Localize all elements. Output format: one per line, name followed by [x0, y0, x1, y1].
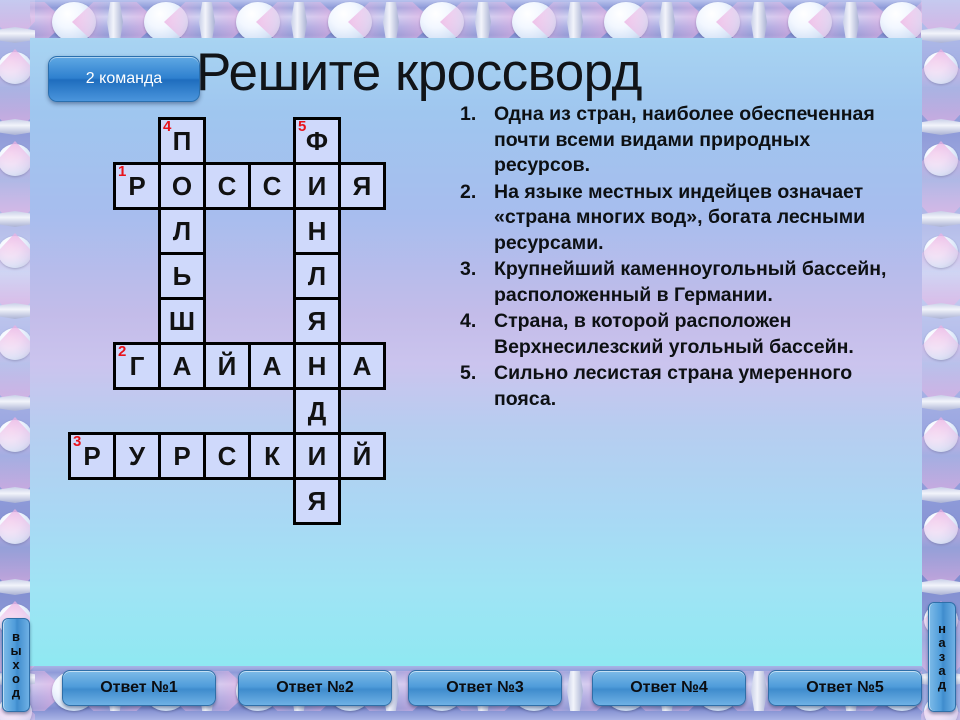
vertical-button-letter: н: [938, 622, 946, 636]
crossword-cell-number: 3: [73, 434, 81, 449]
crossword-cell-letter: Ь: [173, 261, 192, 292]
crossword-cell[interactable]: О: [158, 162, 206, 210]
crossword-cell[interactable]: И: [293, 432, 341, 480]
answer-button-2[interactable]: Ответ №2: [238, 670, 392, 706]
crossword-cell-number: 1: [118, 164, 126, 179]
answer-button-bar: Ответ №1Ответ №2Ответ №3Ответ №4Ответ №5: [0, 658, 960, 720]
vertical-button-letter: д: [12, 686, 20, 700]
frame-bar-ornament: [843, 2, 859, 42]
crossword-cell[interactable]: Й: [338, 432, 386, 480]
crossword-cell[interactable]: 5Ф: [293, 117, 341, 165]
clue-item: 3.Крупнейший каменноугольный бассейн, ра…: [460, 257, 890, 308]
crossword-cell[interactable]: А: [248, 342, 296, 390]
crossword-cell-letter: Ш: [169, 306, 195, 337]
crossword-cell-letter: Н: [308, 216, 327, 247]
crossword-cell[interactable]: А: [158, 342, 206, 390]
frame-bar-ornament: [475, 2, 491, 42]
crossword-cell-letter: П: [173, 126, 192, 157]
vertical-button-letter: ы: [10, 644, 21, 658]
crossword-cell[interactable]: Р: [158, 432, 206, 480]
crossword-cell-letter: С: [218, 441, 237, 472]
crossword-cell-letter: А: [263, 351, 282, 382]
crossword-cell-letter: А: [353, 351, 372, 382]
crossword-cell[interactable]: Ш: [158, 297, 206, 345]
clue-text: Одна из стран, наиболее обеспеченная поч…: [494, 102, 890, 179]
answer-button-1[interactable]: Ответ №1: [62, 670, 216, 706]
crossword-cell[interactable]: 3Р: [68, 432, 116, 480]
frame-bar-ornament: [567, 2, 583, 42]
vertical-button-letter: а: [938, 636, 945, 650]
answer-button-4[interactable]: Ответ №4: [592, 670, 746, 706]
frame-bar-ornament: [921, 303, 960, 319]
crossword-cell-number: 5: [298, 119, 306, 134]
clue-item: 4.Страна, в которой расположен Верхнесил…: [460, 309, 890, 360]
crossword-cell-letter: И: [308, 441, 327, 472]
crossword-cell[interactable]: И: [293, 162, 341, 210]
crossword-cell-number: 2: [118, 344, 126, 359]
crossword-cell-letter: С: [218, 171, 237, 202]
frame-bar-ornament: [921, 119, 960, 135]
crossword-cell-letter: Л: [173, 216, 191, 247]
crossword-cell[interactable]: 4П: [158, 117, 206, 165]
team-badge[interactable]: 2 команда: [48, 56, 200, 102]
crossword-cell-number: 4: [163, 119, 171, 134]
crossword-cell[interactable]: С: [203, 162, 251, 210]
crossword-cell-letter: У: [129, 441, 145, 472]
vertical-button-letter: х: [12, 658, 19, 672]
crossword-cell[interactable]: Й: [203, 342, 251, 390]
vertical-button-letter: о: [12, 672, 20, 686]
back-button[interactable]: назад: [928, 602, 956, 712]
frame-bar-ornament: [921, 395, 960, 411]
clue-text: Сильно лесистая страна умеренного пояса.: [494, 361, 890, 412]
clue-item: 5.Сильно лесистая страна умеренного пояс…: [460, 361, 890, 412]
clue-text: Страна, в которой расположен Верхнесилез…: [494, 309, 890, 360]
crossword-cell-letter: Л: [308, 261, 326, 292]
crossword-cell[interactable]: У: [113, 432, 161, 480]
frame-bar-ornament: [921, 27, 960, 43]
crossword-cell[interactable]: Я: [293, 297, 341, 345]
exit-button[interactable]: выход: [2, 618, 30, 712]
crossword-cell[interactable]: К: [248, 432, 296, 480]
frame-bar-ornament: [921, 579, 960, 595]
frame-bar-ornament: [659, 2, 675, 42]
crossword-cell[interactable]: 2Г: [113, 342, 161, 390]
crossword-cell-letter: Р: [128, 171, 145, 202]
crossword-cell-letter: И: [308, 171, 327, 202]
crossword-cell-letter: Ф: [306, 126, 328, 157]
presentation-slide: Решите кроссворд 2 команда 4П5Ф1РОССИЯЛН…: [0, 0, 960, 720]
crossword-cell-letter: Я: [353, 171, 372, 202]
crossword-cell[interactable]: Я: [338, 162, 386, 210]
vertical-button-letter: з: [939, 650, 945, 664]
crossword-cell-letter: Й: [353, 441, 372, 472]
clue-item: 1.Одна из стран, наиболее обеспеченная п…: [460, 102, 890, 179]
crossword-cell[interactable]: С: [248, 162, 296, 210]
clue-text: На языке местных индейцев означает «стра…: [494, 180, 890, 257]
crossword-cell-letter: Д: [308, 396, 327, 427]
crossword-cell[interactable]: Ь: [158, 252, 206, 300]
crossword-cell-letter: А: [173, 351, 192, 382]
clue-list: 1.Одна из стран, наиболее обеспеченная п…: [460, 102, 890, 413]
crossword-cell-letter: Й: [218, 351, 237, 382]
crossword-cell-letter: Н: [308, 351, 327, 382]
crossword-cell-letter: Я: [308, 306, 327, 337]
crossword-cell[interactable]: Н: [293, 342, 341, 390]
crossword-cell-letter: О: [172, 171, 192, 202]
crossword-cell[interactable]: Я: [293, 477, 341, 525]
crossword-cell-letter: Г: [130, 351, 145, 382]
crossword-cell-letter: К: [264, 441, 280, 472]
clue-item: 2.На языке местных индейцев означает «ст…: [460, 180, 890, 257]
crossword-cell[interactable]: Л: [158, 207, 206, 255]
crossword-cell[interactable]: Д: [293, 387, 341, 435]
vertical-button-letter: в: [12, 630, 20, 644]
frame-bar-ornament: [921, 211, 960, 227]
frame-bar-ornament: [751, 2, 767, 42]
crossword-cell[interactable]: Л: [293, 252, 341, 300]
vertical-button-letter: а: [938, 664, 945, 678]
vertical-button-letter: д: [938, 678, 946, 692]
crossword-cell[interactable]: С: [203, 432, 251, 480]
crossword-cell-letter: С: [263, 171, 282, 202]
crossword-cell[interactable]: А: [338, 342, 386, 390]
answer-button-3[interactable]: Ответ №3: [408, 670, 562, 706]
answer-button-5[interactable]: Ответ №5: [768, 670, 922, 706]
frame-bar-ornament: [921, 487, 960, 503]
crossword-cell[interactable]: Н: [293, 207, 341, 255]
clue-text: Крупнейший каменноугольный бассейн, расп…: [494, 257, 890, 308]
crossword-cell-letter: Я: [308, 486, 327, 517]
crossword-cell-letter: Р: [83, 441, 100, 472]
crossword-cell-letter: Р: [173, 441, 190, 472]
crossword-cell[interactable]: 1Р: [113, 162, 161, 210]
